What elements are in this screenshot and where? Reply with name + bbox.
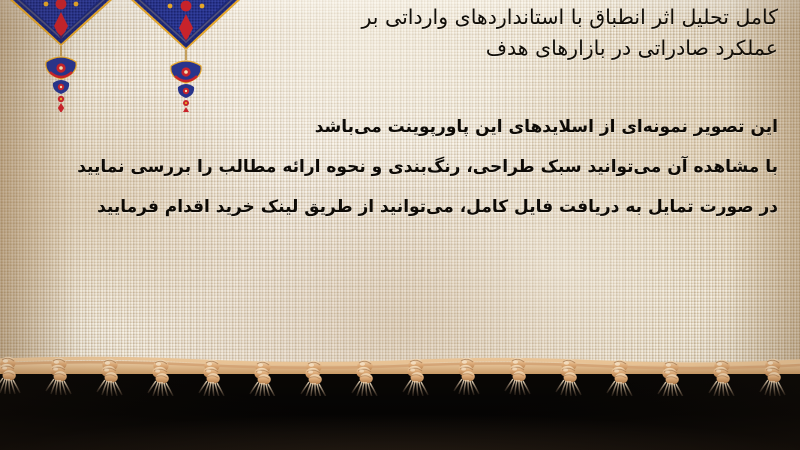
presentation-slide: کامل تحلیل اثر انطباق با استانداردهای وا… [0,0,800,450]
slide-body-line-1: این تصویر نمونه‌ای از اسلایدهای این پاور… [78,108,778,148]
slide-title-line-2: عملکرد صادراتی در بازارهای هدف [238,33,778,64]
slide-title-line-1: کامل تحلیل اثر انطباق با استانداردهای وا… [238,2,778,33]
slide-body-line-2: با مشاهده آن می‌توانید سبک طراحی، رنگ‌بن… [78,148,778,188]
slide-body-line-3: در صورت تمایل به دریافت فایل کامل، می‌تو… [78,188,778,228]
slide-title: کامل تحلیل اثر انطباق با استانداردهای وا… [238,2,778,64]
carpet-black-field [0,370,800,450]
slide-body: این تصویر نمونه‌ای از اسلایدهای این پاور… [78,108,778,228]
